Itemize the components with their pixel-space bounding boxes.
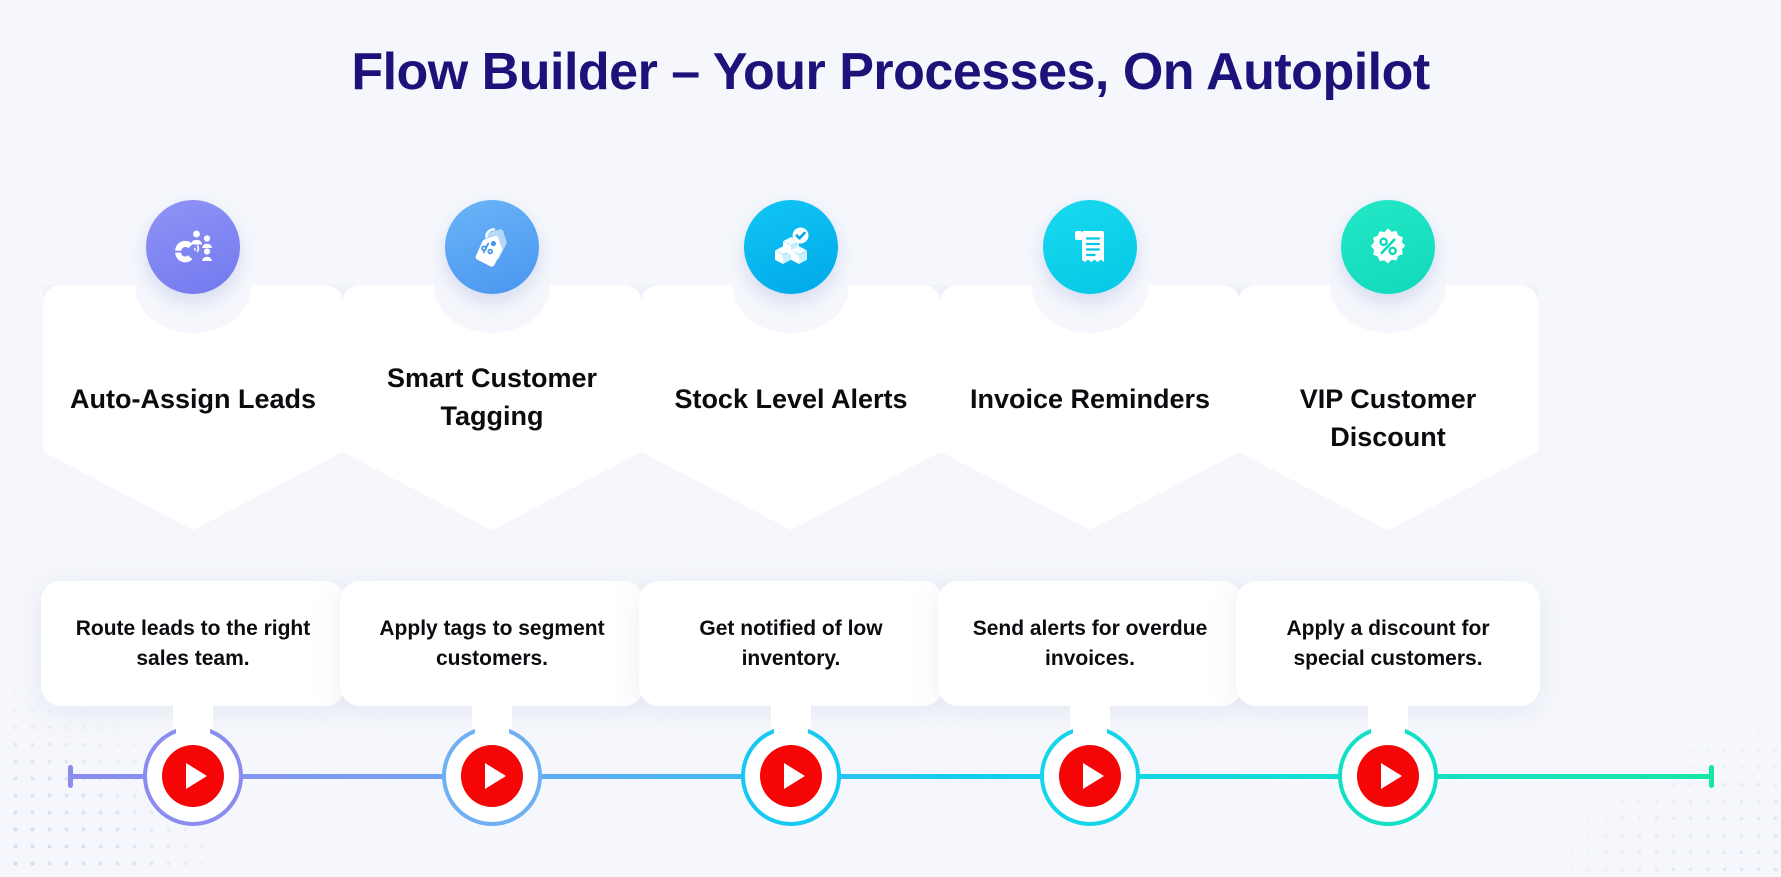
flow-step-4: Invoice Reminders Send alerts for overdu… bbox=[930, 0, 1250, 877]
node-ring-gap bbox=[1073, 720, 1107, 736]
play-triangle-icon bbox=[784, 763, 805, 789]
timeline-node-3[interactable] bbox=[741, 726, 841, 826]
feature-card-3[interactable]: Stock Level Alerts bbox=[641, 285, 941, 530]
flow-step-5: VIP Customer Discount Apply a discount f… bbox=[1228, 0, 1548, 877]
lead-magnet-icon bbox=[146, 200, 240, 294]
description-text-2: Apply tags to segment customers. bbox=[340, 614, 644, 674]
flow-step-1: Auto-Assign Leads Route leads to the rig… bbox=[33, 0, 353, 877]
flow-step-2: Smart Customer Tagging Apply tags to seg… bbox=[332, 0, 652, 877]
price-tags-icon bbox=[445, 200, 539, 294]
play-triangle-icon bbox=[186, 763, 207, 789]
timeline-node-4[interactable] bbox=[1040, 726, 1140, 826]
description-text-5: Apply a discount for special customers. bbox=[1236, 614, 1540, 674]
description-card-3[interactable]: Get notified of low inventory. bbox=[639, 581, 943, 706]
feature-title-4: Invoice Reminders bbox=[940, 380, 1240, 418]
feature-title-1: Auto-Assign Leads bbox=[43, 380, 343, 418]
play-triangle-icon bbox=[1381, 763, 1402, 789]
node-ring-gap bbox=[774, 720, 808, 736]
feature-title-2: Smart Customer Tagging bbox=[342, 359, 642, 436]
play-triangle-icon bbox=[1083, 763, 1104, 789]
node-ring-gap bbox=[475, 720, 509, 736]
timeline-node-1[interactable] bbox=[143, 726, 243, 826]
feature-title-5: VIP Customer Discount bbox=[1238, 380, 1538, 457]
play-button-2[interactable] bbox=[461, 745, 523, 807]
play-button-1[interactable] bbox=[162, 745, 224, 807]
feature-card-1[interactable]: Auto-Assign Leads bbox=[43, 285, 343, 530]
play-button-3[interactable] bbox=[760, 745, 822, 807]
percent-badge-icon bbox=[1341, 200, 1435, 294]
play-triangle-icon bbox=[485, 763, 506, 789]
node-ring-gap bbox=[1371, 720, 1405, 736]
node-ring-gap bbox=[176, 720, 210, 736]
description-card-1[interactable]: Route leads to the right sales team. bbox=[41, 581, 345, 706]
timeline-track bbox=[68, 774, 1714, 779]
description-card-5[interactable]: Apply a discount for special customers. bbox=[1236, 581, 1540, 706]
flow-step-3: Stock Level Alerts Get notified of low i… bbox=[631, 0, 951, 877]
feature-card-4[interactable]: Invoice Reminders bbox=[940, 285, 1240, 530]
timeline-end-cap bbox=[1709, 765, 1714, 788]
play-button-5[interactable] bbox=[1357, 745, 1419, 807]
feature-card-5[interactable]: VIP Customer Discount bbox=[1238, 285, 1538, 530]
feature-title-3: Stock Level Alerts bbox=[641, 380, 941, 418]
description-text-3: Get notified of low inventory. bbox=[639, 614, 943, 674]
timeline-node-5[interactable] bbox=[1338, 726, 1438, 826]
description-card-4[interactable]: Send alerts for overdue invoices. bbox=[938, 581, 1242, 706]
description-text-4: Send alerts for overdue invoices. bbox=[938, 614, 1242, 674]
timeline-node-2[interactable] bbox=[442, 726, 542, 826]
play-button-4[interactable] bbox=[1059, 745, 1121, 807]
invoice-receipt-icon bbox=[1043, 200, 1137, 294]
feature-card-2[interactable]: Smart Customer Tagging bbox=[342, 285, 642, 530]
description-card-2[interactable]: Apply tags to segment customers. bbox=[340, 581, 644, 706]
page-title: Flow Builder – Your Processes, On Autopi… bbox=[0, 42, 1781, 102]
boxes-check-icon bbox=[744, 200, 838, 294]
flow-builder-board: Auto-Assign Leads Route leads to the rig… bbox=[0, 0, 1781, 877]
description-text-1: Route leads to the right sales team. bbox=[41, 614, 345, 674]
